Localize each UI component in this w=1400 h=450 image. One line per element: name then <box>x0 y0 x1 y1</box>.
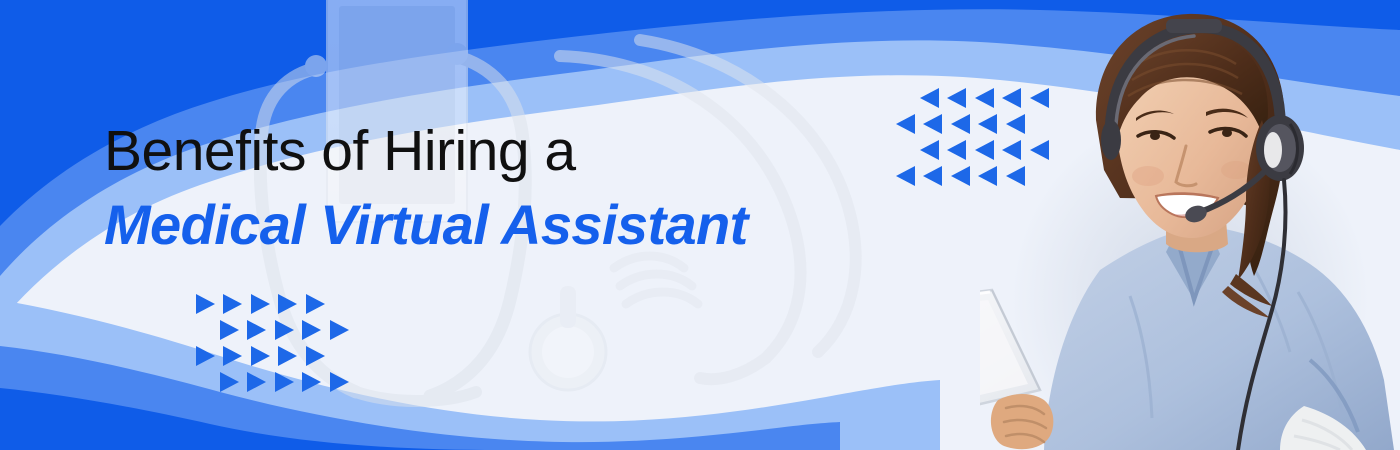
hand <box>991 394 1053 449</box>
triangle-right-icon <box>196 346 215 366</box>
triangle-right-icon <box>251 346 270 366</box>
headset-top-pad <box>1166 19 1222 33</box>
triangle-right-icon <box>330 320 349 340</box>
right-pointing-triangle-grid <box>196 294 353 398</box>
triangle-right-icon <box>251 294 270 314</box>
triangle-right-icon <box>278 294 297 314</box>
headline-line-2: Medical Virtual Assistant <box>104 190 748 260</box>
triangle-right-icon <box>330 372 349 392</box>
triangle-right-icon <box>278 346 297 366</box>
triangle-right-icon <box>247 372 266 392</box>
cheek-left <box>1132 166 1164 186</box>
triangle-right-icon <box>306 294 325 314</box>
triangle-left-icon <box>896 114 915 134</box>
triangle-left-icon <box>896 166 915 186</box>
triangle-row <box>196 346 353 372</box>
triangle-left-icon <box>947 140 966 160</box>
triangle-left-icon <box>951 114 970 134</box>
triangle-right-icon <box>302 372 321 392</box>
triangle-right-icon <box>247 320 266 340</box>
triangle-row <box>196 294 353 320</box>
triangle-right-icon <box>306 346 325 366</box>
triangle-row <box>196 372 353 398</box>
triangle-left-icon <box>923 166 942 186</box>
triangle-right-icon <box>302 320 321 340</box>
cheek-right <box>1221 161 1251 179</box>
triangle-row <box>196 320 353 346</box>
medical-assistant-photo <box>980 0 1400 450</box>
triangle-right-icon <box>223 294 242 314</box>
triangle-right-icon <box>220 372 239 392</box>
triangle-left-icon <box>947 88 966 108</box>
triangle-right-icon <box>223 346 242 366</box>
headset-earcup-far <box>1101 120 1121 160</box>
triangle-right-icon <box>220 320 239 340</box>
headline-block: Benefits of Hiring a Medical Virtual Ass… <box>104 118 748 260</box>
triangle-left-icon <box>923 114 942 134</box>
triangle-right-icon <box>275 372 294 392</box>
triangle-left-icon <box>920 140 939 160</box>
headline-line-1: Benefits of Hiring a <box>104 118 748 184</box>
triangle-right-icon <box>196 294 215 314</box>
triangle-right-icon <box>275 320 294 340</box>
promo-banner: Benefits of Hiring a Medical Virtual Ass… <box>0 0 1400 450</box>
triangle-left-icon <box>951 166 970 186</box>
triangle-left-icon <box>920 88 939 108</box>
